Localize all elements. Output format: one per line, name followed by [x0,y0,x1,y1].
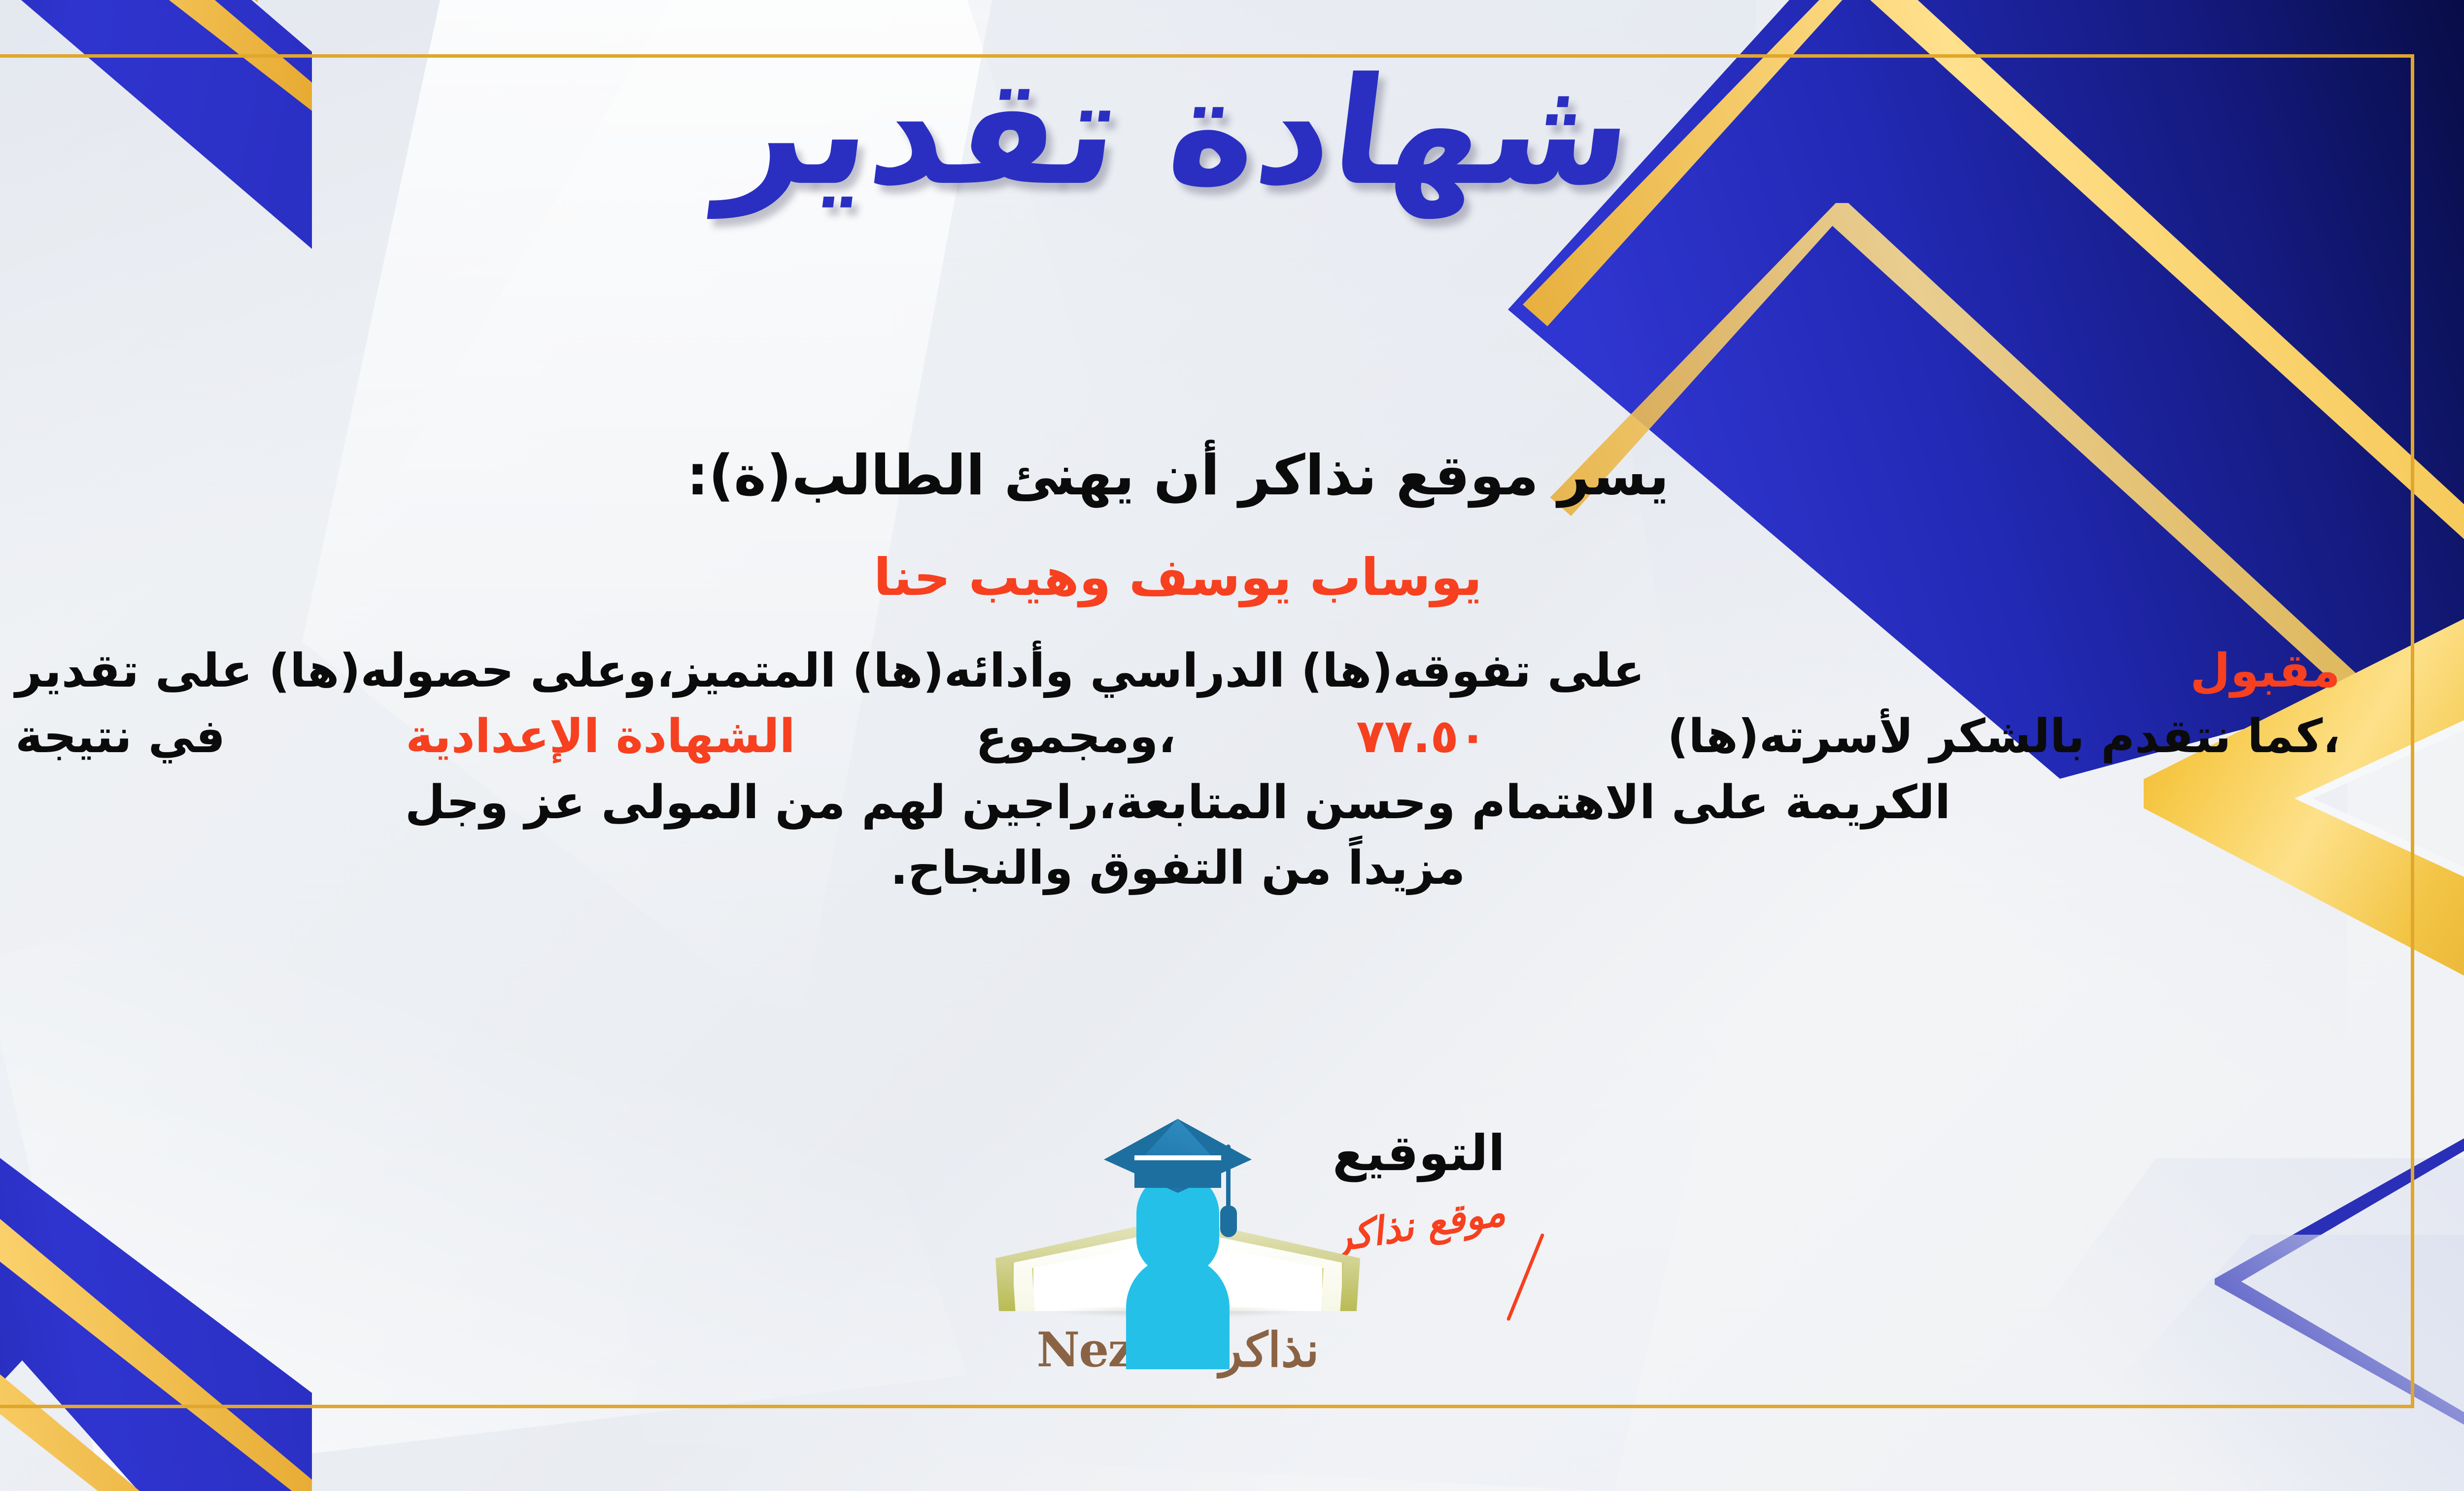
certificate-canvas: شهادة تقدير يسر موقع نذاكر أن يهنئ الطال… [0,0,2464,1491]
certificate-body: مقبول على تفوقه(ها) الدراسي وأدائه(ها) ا… [0,638,2414,902]
body-line-1: مقبول على تفوقه(ها) الدراسي وأدائه(ها) ا… [0,638,2414,704]
exam-name: الشهادة الإعدادية [406,704,795,769]
certificate-content: شهادة تقدير يسر موقع نذاكر أن يهنئ الطال… [0,54,2414,1408]
certificate-title: شهادة تقدير [0,39,2426,224]
body-line-4: مزيداً من التفوق والنجاح. [0,835,2414,901]
cap-band [1134,1155,1221,1188]
greeting-text: يسر موقع نذاكر أن يهنئ الطالب(ة): [0,444,2414,508]
cap-tassel-cord [1226,1144,1231,1210]
body-line-2: ،كما نتقدم بالشكر لأسرته(ها) ٧٧.٥٠ ،ومجم… [0,704,2414,769]
body-line-1-text: على تفوقه(ها) الدراسي وأدائه(ها) المتميز… [15,638,1644,704]
graduation-cap-icon [1104,1119,1252,1193]
nezakr-logo: نذاكرNezakr [991,1114,1365,1390]
thanks-family-text: ،كما نتقدم بالشكر لأسرته(ها) [1667,704,2340,769]
grade-value: مقبول [2190,638,2340,704]
logo-artwork [991,1114,1365,1311]
student-name: يوساب يوسف وهيب حنا [0,547,2414,607]
cap-tassel-ball [1220,1206,1237,1237]
result-of-label: في نتيجة [15,704,225,769]
body-line-3: الكريمة على الاهتمام وحسن المتابعة،راجين… [0,770,2414,835]
total-label: ،ومجموع [976,704,1176,769]
total-score-value: ٧٧.٥٠ [1356,704,1487,769]
signature-stroke-icon [1506,1233,1545,1321]
